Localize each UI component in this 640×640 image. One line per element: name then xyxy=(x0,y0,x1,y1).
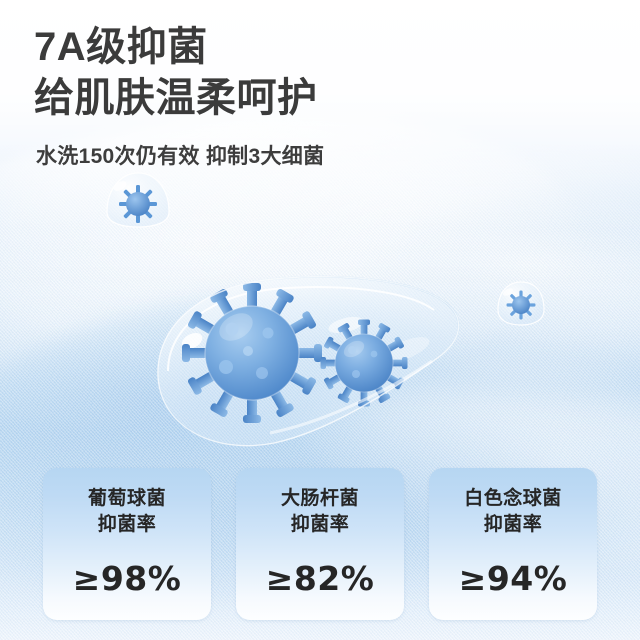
efficacy-card: 葡萄球菌 抑菌率 ≥98% xyxy=(43,468,211,620)
card-value: ≥98% xyxy=(73,559,182,598)
card-title-line-1: 大肠杆菌 xyxy=(281,488,359,509)
card-title-line-2: 抑菌率 xyxy=(88,512,166,538)
card-title-line-1: 白色念球菌 xyxy=(464,488,562,509)
card-title-line-2: 抑菌率 xyxy=(464,512,562,538)
headline-line-1: 7A级抑菌 xyxy=(34,25,208,69)
headline-line-2: 给肌肤温柔呵护 xyxy=(34,73,318,124)
card-title: 白色念球菌 抑菌率 xyxy=(464,486,562,537)
efficacy-card: 白色念球菌 抑菌率 ≥94% xyxy=(429,468,597,620)
poster-subline: 水洗150次仍有效 抑制3大细菌 xyxy=(36,140,324,170)
card-title: 大肠杆菌 抑菌率 xyxy=(281,486,359,537)
card-title: 葡萄球菌 抑菌率 xyxy=(88,486,166,537)
efficacy-card: 大肠杆菌 抑菌率 ≥82% xyxy=(236,468,404,620)
card-title-line-1: 葡萄球菌 xyxy=(88,488,166,509)
card-title-line-2: 抑菌率 xyxy=(281,512,359,538)
card-value: ≥82% xyxy=(266,559,375,598)
antibacterial-promo-poster: 7A级抑菌 给肌肤温柔呵护 水洗150次仍有效 抑制3大细菌 葡萄球菌 抑菌率 … xyxy=(0,0,640,640)
card-value: ≥94% xyxy=(459,559,568,598)
efficacy-card-list: 葡萄球菌 抑菌率 ≥98% 大肠杆菌 抑菌率 ≥82% 白色念球菌 抑菌率 ≥9… xyxy=(43,468,597,620)
poster-headline: 7A级抑菌 给肌肤温柔呵护 xyxy=(34,22,318,124)
